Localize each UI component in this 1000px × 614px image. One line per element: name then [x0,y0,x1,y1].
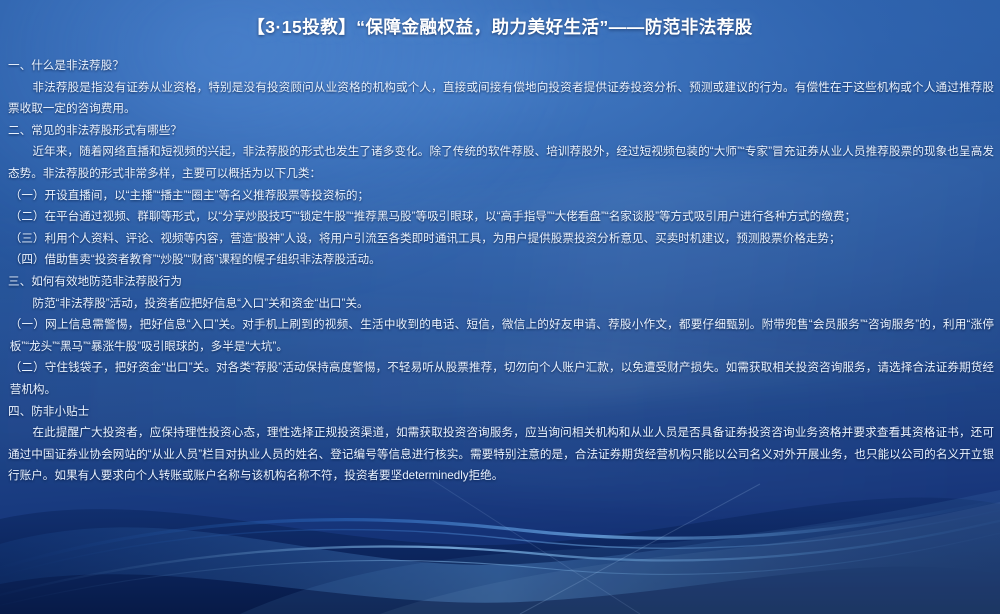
section-paragraph-2-1: 近年来，随着网络直播和短视频的兴起，非法荐股的形式也发生了诸多变化。除了传统的软… [8,141,994,184]
section-paragraph-4-1: 在此提醒广大投资者，应保持理性投资心态，理性选择正规投资渠道，如需获取投资咨询服… [8,422,994,487]
section-item-2-3: （三）利用个人资料、评论、视频等内容，营造“股神”人设，将用户引流至各类即时通讯… [8,228,994,250]
section-item-2-1: （一）开设直播间，以“主播”“播主”“圈主”等名义推荐股票等投资标的； [8,185,994,207]
section-heading-2: 二、常见的非法荐股形式有哪些？ [8,120,994,142]
page-title: 【3·15投教】“保障金融权益，助力美好生活”——防范非法荐股 [0,14,1000,39]
poster-body: 一、什么是非法荐股？ 非法荐股是指没有证券从业资格，特别是没有投资顾问从业资格的… [0,55,1000,487]
section-paragraph-1-1: 非法荐股是指没有证券从业资格，特别是没有投资顾问从业资格的机构或个人，直接或间接… [8,77,994,120]
section-paragraph-3-1: 防范“非法荐股”活动，投资者应把好信息“入口”关和资金“出口”关。 [8,293,994,315]
poster-content: 【3·15投教】“保障金融权益，助力美好生活”——防范非法荐股 一、什么是非法荐… [0,0,1000,487]
section-heading-4: 四、防非小贴士 [8,401,994,423]
section-item-2-4: （四）借助售卖“投资者教育”“炒股”“财商”课程的幌子组织非法荐股活动。 [8,249,994,271]
section-heading-3: 三、如何有效地防范非法荐股行为 [8,271,994,293]
section-item-3-1: （一）网上信息需警惕，把好信息“入口”关。对手机上刷到的视频、生活中收到的电话、… [8,314,994,357]
section-heading-1: 一、什么是非法荐股？ [8,55,994,77]
poster-canvas: 【3·15投教】“保障金融权益，助力美好生活”——防范非法荐股 一、什么是非法荐… [0,0,1000,614]
section-item-2-2: （二）在平台通过视频、群聊等形式，以“分享炒股技巧”“锁定牛股”“推荐黑马股”等… [8,206,994,228]
section-item-3-2: （二）守住钱袋子，把好资金“出口”关。对各类“荐股”活动保持高度警惕，不轻易听从… [8,357,994,400]
